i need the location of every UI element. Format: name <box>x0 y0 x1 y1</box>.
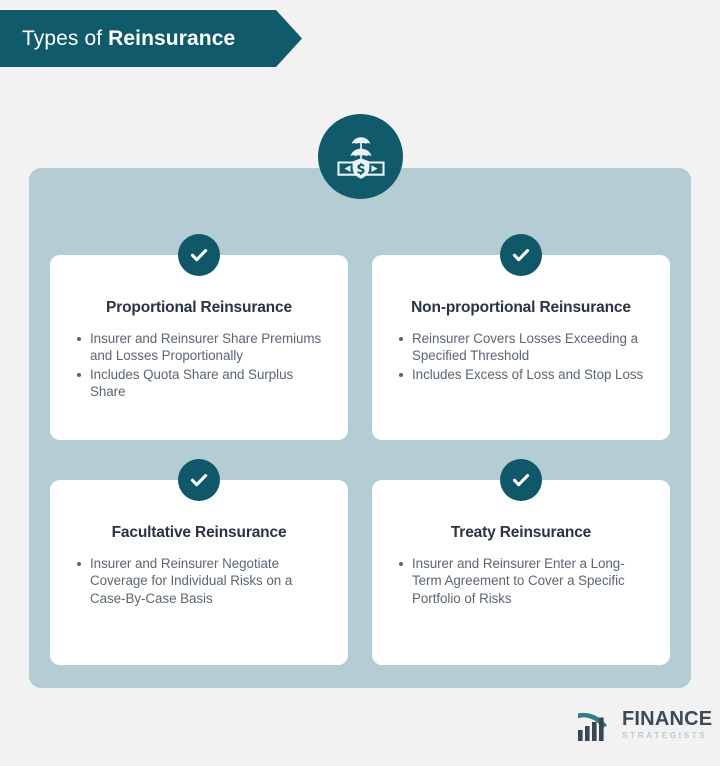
cards-row-top: Proportional Reinsurance Insurer and Rei… <box>50 255 670 440</box>
check-icon <box>178 234 220 276</box>
brand-name-secondary: STRATEGISTS <box>622 730 712 741</box>
list-item: Includes Excess of Loss and Stop Loss <box>412 366 650 384</box>
check-icon <box>500 234 542 276</box>
card-treaty-reinsurance[interactable]: Treaty Reinsurance Insurer and Reinsurer… <box>372 480 670 665</box>
card-bullet-list: Insurer and Reinsurer Share Premiums and… <box>68 330 330 401</box>
page-title: Types of Reinsurance <box>0 27 235 51</box>
card-facultative-reinsurance[interactable]: Facultative Reinsurance Insurer and Rein… <box>50 480 348 665</box>
list-item: Insurer and Reinsurer Negotiate Coverage… <box>90 555 328 608</box>
brand-name-primary: FINANCE <box>622 709 712 729</box>
card-title: Facultative Reinsurance <box>68 524 330 543</box>
list-item: Insurer and Reinsurer Share Premiums and… <box>90 330 328 365</box>
card-bullet-list: Insurer and Reinsurer Enter a Long-Term … <box>390 555 652 608</box>
brand-logo-text: FINANCE STRATEGISTS <box>622 709 712 741</box>
card-proportional-reinsurance[interactable]: Proportional Reinsurance Insurer and Rei… <box>50 255 348 440</box>
page-title-emphasis: Reinsurance <box>108 27 235 50</box>
check-icon <box>178 459 220 501</box>
card-non-proportional-reinsurance[interactable]: Non-proportional Reinsurance Reinsurer C… <box>372 255 670 440</box>
umbrella-money-shield-icon <box>318 114 403 199</box>
card-title: Non-proportional Reinsurance <box>390 299 652 318</box>
list-item: Reinsurer Covers Losses Exceeding a Spec… <box>412 330 650 365</box>
list-item: Includes Quota Share and Surplus Share <box>90 366 328 401</box>
header-ribbon: Types of Reinsurance <box>0 10 302 67</box>
cards-row-bottom: Facultative Reinsurance Insurer and Rein… <box>50 480 670 665</box>
card-title: Treaty Reinsurance <box>390 524 652 543</box>
check-icon <box>500 459 542 501</box>
card-bullet-list: Reinsurer Covers Losses Exceeding a Spec… <box>390 330 652 384</box>
list-item: Insurer and Reinsurer Enter a Long-Term … <box>412 555 650 608</box>
card-title: Proportional Reinsurance <box>68 299 330 318</box>
card-bullet-list: Insurer and Reinsurer Negotiate Coverage… <box>68 555 330 608</box>
bar-chart-arc-logo-icon <box>576 705 618 745</box>
cards-grid: Proportional Reinsurance Insurer and Rei… <box>50 255 670 665</box>
brand-logo[interactable]: FINANCE STRATEGISTS <box>576 704 712 746</box>
page-title-prefix: Types of <box>22 27 108 50</box>
